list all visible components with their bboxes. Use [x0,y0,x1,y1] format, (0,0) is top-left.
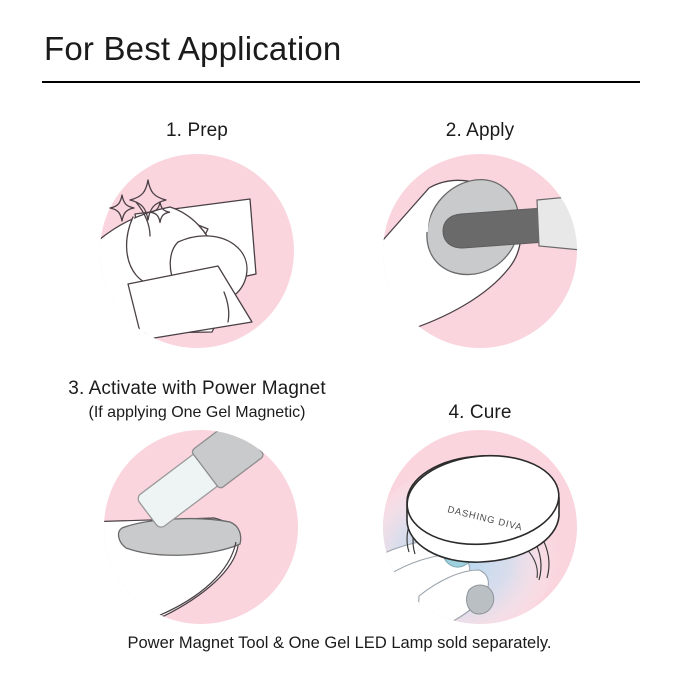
illustration-prep [100,154,294,348]
instruction-card: For Best Application 1. Prep [0,0,679,679]
illustration-apply [383,154,577,348]
page-title: For Best Application [44,30,342,68]
title-divider [42,81,640,83]
footer-note: Power Magnet Tool & One Gel LED Lamp sol… [0,634,679,653]
illustration-cure: DASHING DIVA [383,430,577,624]
step-label-apply: 2. Apply [380,120,580,142]
illustration-activate [104,430,298,624]
step-label-cure: 4. Cure [380,402,580,424]
step-label-prep: 1. Prep [97,120,297,142]
step-sublabel-activate: (If applying One Gel Magnetic) [27,404,367,422]
secondary-nail [467,585,494,614]
step-label-activate: 3. Activate with Power Magnet [27,378,367,400]
